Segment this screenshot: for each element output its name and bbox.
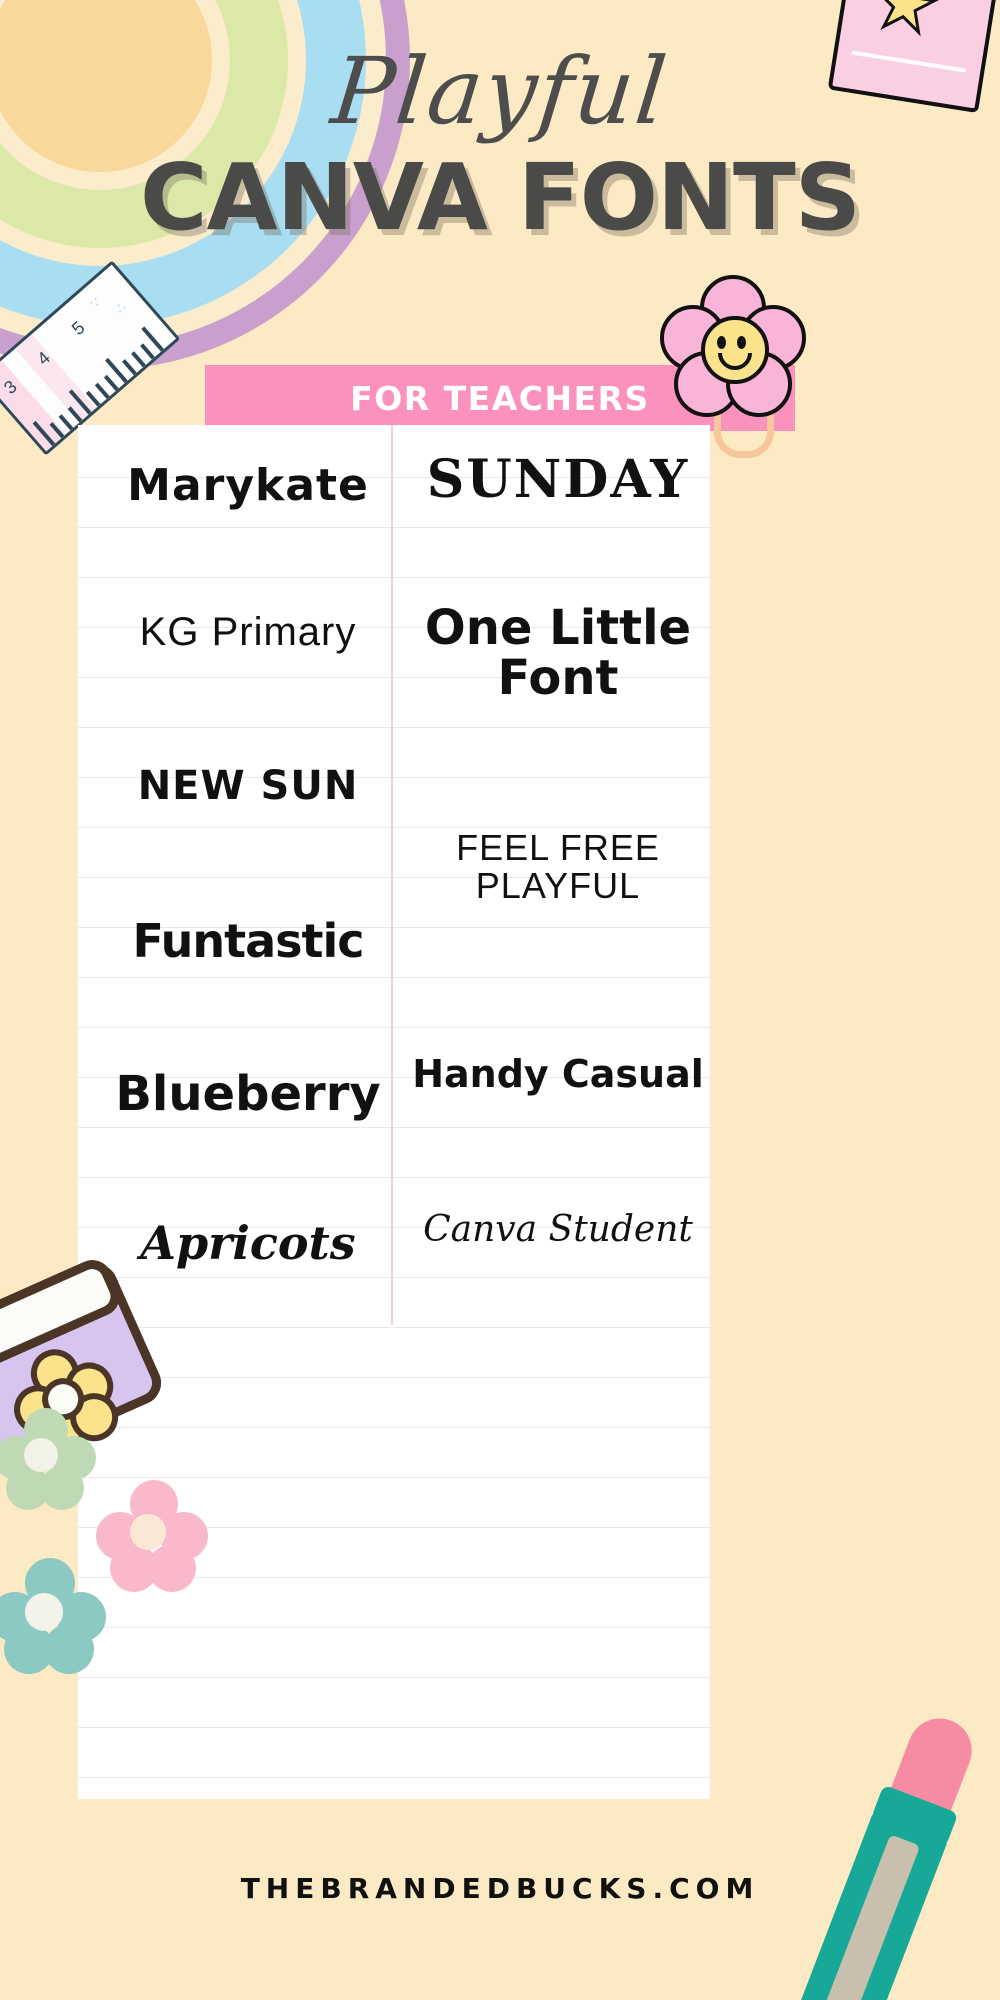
notebook-line — [78, 1477, 710, 1478]
font-sample-new-sun: NEW SUN — [108, 765, 388, 807]
notebook-line — [78, 1177, 710, 1178]
flower-center — [130, 1514, 166, 1550]
flower-center — [24, 1438, 58, 1472]
notebook-line — [78, 1727, 710, 1728]
notebook-line — [78, 1777, 710, 1778]
column-divider — [391, 425, 393, 1325]
font-sample-one-little-font: One Little Font — [408, 603, 708, 704]
ruler-tick — [131, 351, 146, 367]
flower-center — [25, 1593, 63, 1631]
sparkle-icon: ∵ — [87, 294, 105, 313]
font-sample-blueberry: Blueberry — [108, 1069, 388, 1119]
ruler-tick — [140, 343, 155, 359]
flower-paperclip-decoration — [660, 275, 800, 445]
footer-website[interactable]: THEBRANDEDBUCKS.COM — [0, 1872, 1000, 1905]
crayon-decoration — [794, 1706, 993, 2000]
font-sample-marykate: Marykate — [108, 463, 388, 509]
page-title-main: CANVA FONTS — [0, 152, 1000, 244]
font-sample-sunday: SUNDAY — [408, 453, 708, 508]
notebook-line — [78, 577, 710, 578]
notebook-line — [78, 1327, 710, 1328]
font-sample-funtastic: Funtastic — [108, 917, 388, 965]
ruler-tick — [104, 375, 119, 391]
teal-flower-decoration — [0, 1558, 110, 1678]
pink-flower-decoration — [96, 1480, 212, 1596]
ruler-number-5: 5 — [68, 317, 89, 339]
green-flower-decoration — [0, 1408, 98, 1512]
notebook-line — [78, 1677, 710, 1678]
notebook-line — [78, 1627, 710, 1628]
notebook-line — [78, 977, 710, 978]
ruler-tick — [95, 383, 110, 399]
smiley-eye-left — [717, 336, 726, 349]
font-sample-feel-free-playful: FEEL FREE PLAYFUL — [408, 829, 708, 905]
ruler-tick — [122, 359, 137, 375]
poster-canvas: ★ Playful CANVA FONTS FOR TEACHERS 3 4 5 — [0, 0, 1000, 2000]
flower-petal — [40, 1466, 84, 1510]
sparkle-icon: ∴ — [112, 298, 130, 317]
font-sample-canva-student: Canva Student — [408, 1211, 708, 1249]
font-sample-handy-casual: Handy Casual — [408, 1055, 708, 1095]
page-title-script: Playful — [0, 46, 1000, 138]
font-sample-kg-primary: KG Primary — [108, 611, 388, 653]
smiley-eye-right — [737, 336, 746, 349]
flower-petal — [44, 1624, 94, 1674]
font-sample-apricots: Apricots — [108, 1219, 388, 1267]
notebook-line — [78, 1027, 710, 1028]
notebook-line — [78, 1277, 710, 1278]
smiley-face-icon — [701, 316, 769, 384]
notebook-line — [78, 1377, 710, 1378]
notebook-line — [78, 527, 710, 528]
notebook-line — [78, 727, 710, 728]
flower-petal — [148, 1544, 196, 1592]
notebook-line — [78, 1127, 710, 1128]
notebook-line — [78, 1427, 710, 1428]
